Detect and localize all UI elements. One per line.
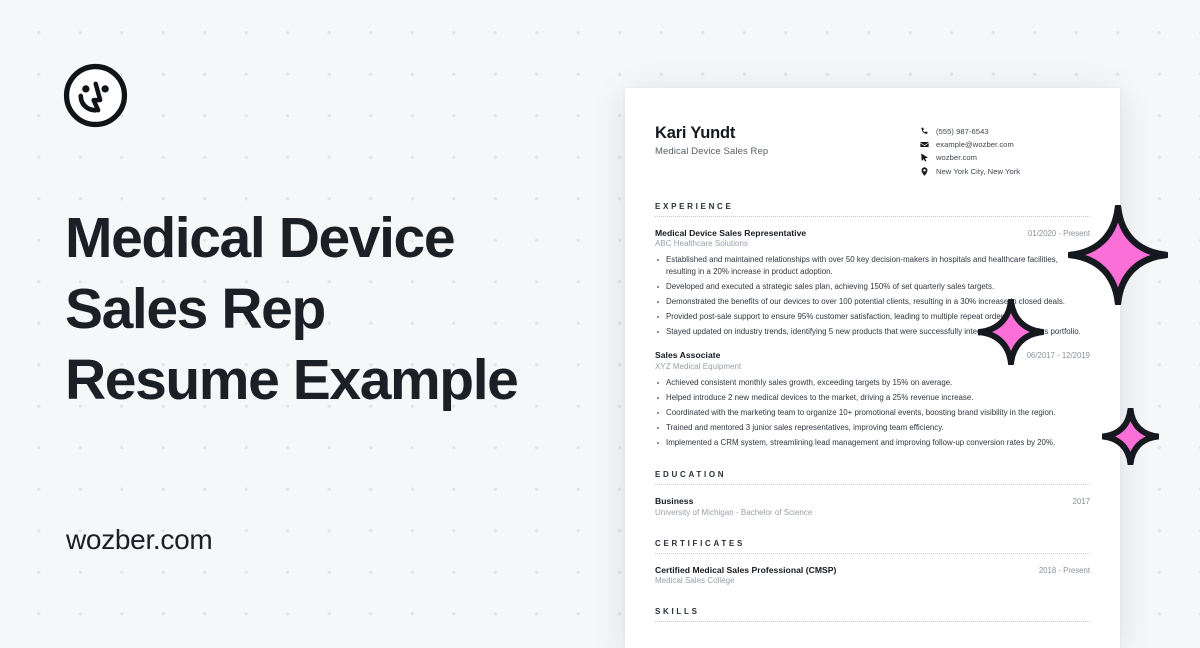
resume-preview-card[interactable]: Kari Yundt Medical Device Sales Rep (555… [625,88,1120,648]
resume-role: Medical Device Sales Rep [655,146,768,157]
bullet-item: Coordinated with the marketing team to o… [655,407,1090,419]
resume-name: Kari Yundt [655,124,768,143]
contact-value: New York City, New York [936,167,1020,176]
bullet-item: Achieved consistent monthly sales growth… [655,377,1090,389]
section-divider [655,621,1090,622]
page-title-line-2: Resume Example [65,345,595,416]
entry-header: Certified Medical Sales Professional (CM… [655,565,1090,575]
entry-title: Sales Associate [655,350,720,360]
resume-identity: Kari Yundt Medical Device Sales Rep [655,124,768,157]
entry-date: 2018 - Present [1031,566,1090,575]
site-url[interactable]: wozber.com [66,524,212,556]
wozber-smiley-logo[interactable] [63,63,128,128]
resume-section-certificates: CERTIFICATESCertified Medical Sales Prof… [655,539,1090,586]
entry-subtitle: XYZ Medical Equipment [655,362,1090,371]
section-title: CERTIFICATES [655,539,1090,548]
section-divider [655,484,1090,485]
resume-entry: Medical Device Sales Representative01/20… [655,228,1090,338]
bullet-item: Trained and mentored 3 junior sales repr… [655,422,1090,434]
page-title-line-0: Medical Device [65,203,595,274]
resume-entry: Business2017University of Michigan - Bac… [655,496,1090,517]
entry-subtitle: University of Michigan - Bachelor of Sci… [655,508,1090,517]
resume-section-education: EDUCATIONBusiness2017University of Michi… [655,470,1090,517]
entry-header: Business2017 [655,496,1090,506]
resume-entry: Certified Medical Sales Professional (CM… [655,565,1090,586]
bullet-item: Provided post-sale support to ensure 95%… [655,311,1090,323]
entry-date: 01/2020 - Present [1020,229,1090,238]
bullet-item: Stayed updated on industry trends, ident… [655,326,1090,338]
bullet-item: Demonstrated the benefits of our devices… [655,296,1090,308]
contact-row-1: example@wozber.com [920,140,1090,149]
contact-value: example@wozber.com [936,140,1014,149]
entry-bullets: Achieved consistent monthly sales growth… [655,377,1090,449]
contact-value: (555) 987-6543 [936,127,989,136]
bullet-item: Implemented a CRM system, streamlining l… [655,437,1090,449]
contact-row-2: wozber.com [920,153,1090,162]
promo-column: Medical DeviceSales RepResume Example wo… [0,0,620,630]
entry-subtitle: Medical Sales College [655,576,1090,585]
entry-header: Sales Associate06/2017 - 12/2019 [655,350,1090,360]
section-title: EXPERIENCE [655,202,1090,211]
section-divider [655,216,1090,217]
resume-entry: Sales Associate06/2017 - 12/2019XYZ Medi… [655,350,1090,448]
resume-section-experience: EXPERIENCEMedical Device Sales Represent… [655,202,1090,449]
page-title: Medical DeviceSales RepResume Example [65,203,595,416]
section-divider [655,553,1090,554]
contact-value: wozber.com [936,153,977,162]
cursor-icon [920,153,929,162]
location-pin-icon [920,167,929,176]
entry-bullets: Established and maintained relationships… [655,254,1090,337]
section-title: SKILLS [655,607,1090,616]
entry-title: Medical Device Sales Representative [655,228,806,238]
bullet-item: Established and maintained relationships… [655,254,1090,277]
page-title-line-1: Sales Rep [65,274,595,345]
contact-list: (555) 987-6543example@wozber.comwozber.c… [920,127,1090,180]
contact-row-3: New York City, New York [920,167,1090,176]
entry-date: 2017 [1065,497,1090,506]
entry-title: Business [655,496,693,506]
entry-header: Medical Device Sales Representative01/20… [655,228,1090,238]
resume-section-skills: SKILLS [655,607,1090,622]
entry-subtitle: ABC Healthcare Solutions [655,239,1090,248]
envelope-icon [920,140,929,149]
entry-title: Certified Medical Sales Professional (CM… [655,565,836,575]
entry-date: 06/2017 - 12/2019 [1019,351,1090,360]
resume-sections: EXPERIENCEMedical Device Sales Represent… [655,202,1090,623]
phone-icon [920,127,929,136]
resume-header: Kari Yundt Medical Device Sales Rep (555… [655,124,1090,180]
contact-row-0: (555) 987-6543 [920,127,1090,136]
section-title: EDUCATION [655,470,1090,479]
bullet-item: Developed and executed a strategic sales… [655,281,1090,293]
bullet-item: Helped introduce 2 new medical devices t… [655,392,1090,404]
